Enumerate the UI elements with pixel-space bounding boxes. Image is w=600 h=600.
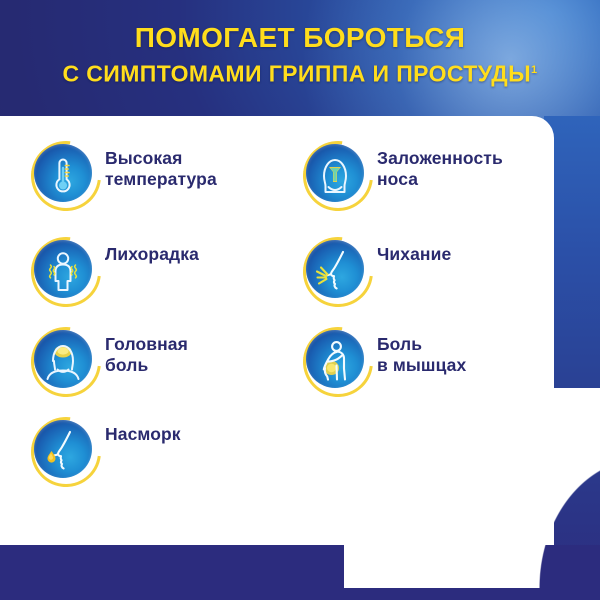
- symptom-label-line-1: Заложенность: [377, 148, 503, 169]
- symptom-label: Высокаятемпература: [105, 142, 217, 190]
- shivering-person-icon: [34, 240, 92, 298]
- headline: ПОМОГАЕТ БОРОТЬСЯ С СИМПТОМАМИ ГРИППА И …: [0, 22, 600, 88]
- headline-line-1: ПОМОГАЕТ БОРОТЬСЯ: [0, 22, 600, 54]
- muscle-pain-person-icon: [306, 330, 364, 388]
- symptom-label-line-1: Насморк: [105, 424, 181, 445]
- badge-disc: [34, 240, 92, 298]
- symptom-item-sneezing-face: Чихание: [306, 238, 578, 328]
- nasal-congestion-head-icon: [306, 144, 364, 202]
- badge-disc: [34, 330, 92, 388]
- muscle-pain-person-icon-badge: [306, 330, 364, 388]
- symptom-label-line-1: Чихание: [377, 244, 451, 265]
- badge-disc: [306, 240, 364, 298]
- badge-disc: [306, 330, 364, 388]
- symptom-label-line-1: Боль: [377, 334, 466, 355]
- symptom-item-muscle-pain-person: Больв мышцах: [306, 328, 578, 418]
- symptom-label-line-2: в мышцах: [377, 355, 466, 376]
- headache-head-icon: [34, 330, 92, 388]
- runny-nose-face-icon: [34, 420, 92, 478]
- headache-head-icon-badge: [34, 330, 92, 388]
- symptom-label-line-2: боль: [105, 355, 188, 376]
- sneezing-face-icon-badge: [306, 240, 364, 298]
- badge-disc: [34, 420, 92, 478]
- badge-disc: [306, 144, 364, 202]
- symptom-label: Насморк: [105, 418, 181, 445]
- nasal-congestion-head-icon-badge: [306, 144, 364, 202]
- symptom-grid: Высокаятемпература Заложенностьноса Лихо…: [0, 116, 554, 545]
- badge-disc: [34, 144, 92, 202]
- runny-nose-face-icon-badge: [34, 420, 92, 478]
- shivering-person-icon-badge: [34, 240, 92, 298]
- symptom-label-line-2: температура: [105, 169, 217, 190]
- sneezing-face-icon: [306, 240, 364, 298]
- symptom-label: Заложенностьноса: [377, 142, 503, 190]
- thermometer-icon-badge: [34, 144, 92, 202]
- symptom-label: Больв мышцах: [377, 328, 466, 376]
- symptom-label: Лихорадка: [105, 238, 199, 265]
- thermometer-icon: [34, 144, 92, 202]
- symptom-label-line-1: Лихорадка: [105, 244, 199, 265]
- headline-line-2-text: С СИМПТОМАМИ ГРИППА И ПРОСТУДЫ: [62, 61, 531, 87]
- symptom-label: Чихание: [377, 238, 451, 265]
- bottom-blue-band: [0, 545, 600, 600]
- symptom-item-thermometer: Высокаятемпература: [34, 142, 306, 238]
- footnote-marker: 1: [531, 64, 538, 76]
- symptom-label-line-2: носа: [377, 169, 503, 190]
- promo-poster: ПОМОГАЕТ БОРОТЬСЯ С СИМПТОМАМИ ГРИППА И …: [0, 0, 600, 600]
- symptom-item-nasal-congestion-head: Заложенностьноса: [306, 142, 578, 238]
- symptom-label: Головнаяболь: [105, 328, 188, 376]
- symptom-item-headache-head: Головнаяболь: [34, 328, 306, 418]
- symptom-item-runny-nose-face: Насморк: [34, 418, 306, 508]
- symptom-label-line-1: Высокая: [105, 148, 217, 169]
- symptom-label-line-1: Головная: [105, 334, 188, 355]
- headline-line-2: С СИМПТОМАМИ ГРИППА И ПРОСТУДЫ1: [0, 56, 600, 88]
- symptom-item-shivering-person: Лихорадка: [34, 238, 306, 328]
